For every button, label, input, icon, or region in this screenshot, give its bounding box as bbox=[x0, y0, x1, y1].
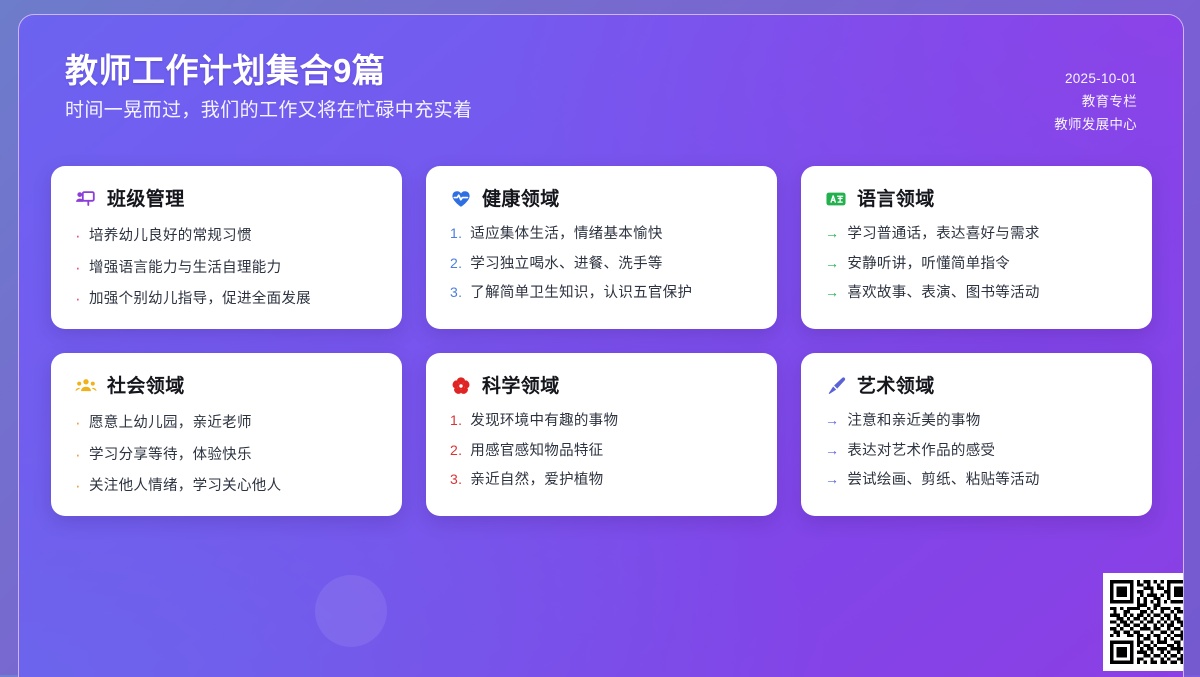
list-item: →安静听讲，听懂简单指令 bbox=[825, 256, 1128, 272]
list-item: ·增强语言能力与生活自理能力 bbox=[75, 258, 378, 276]
paintbrush-icon bbox=[825, 375, 847, 397]
decorative-circle bbox=[315, 575, 387, 647]
card-title: 艺术领域 bbox=[857, 377, 935, 396]
list-item: →表达对艺术作品的感受 bbox=[825, 443, 1128, 459]
card-language-domain[interactable]: 语言领域→学习普通话，表达喜好与需求→安静听讲，听懂简单指令→喜欢故事、表演、图… bbox=[801, 166, 1152, 329]
meta-date: 2025-10-01 bbox=[1054, 67, 1137, 90]
header-meta: 2025-10-01 教育专栏 教师发展中心 bbox=[1054, 51, 1137, 137]
list-marker: → bbox=[825, 472, 839, 486]
list-item: →喜欢故事、表演、图书等活动 bbox=[825, 285, 1128, 301]
list-marker: 1. bbox=[450, 413, 462, 427]
list-marker: · bbox=[75, 446, 81, 463]
list-item-text: 亲近自然，爱护植物 bbox=[470, 473, 753, 488]
presentation-icon bbox=[75, 188, 97, 210]
list-item-text: 学习分享等待，体验快乐 bbox=[89, 448, 378, 463]
list-item-text: 培养幼儿良好的常规习惯 bbox=[89, 229, 378, 244]
list-item-text: 学习独立喝水、进餐、洗手等 bbox=[470, 257, 753, 272]
list-marker: → bbox=[825, 226, 839, 240]
list-marker: · bbox=[75, 290, 81, 307]
list-item-text: 了解简单卫生知识，认识五官保护 bbox=[470, 286, 753, 301]
list-marker: → bbox=[825, 443, 839, 457]
list-item-text: 适应集体生活，情绪基本愉快 bbox=[470, 227, 753, 242]
list-item: ·培养幼儿良好的常规习惯 bbox=[75, 226, 378, 244]
list-item: 2.学习独立喝水、进餐、洗手等 bbox=[450, 256, 753, 272]
list-item: 3.了解简单卫生知识，认识五官保护 bbox=[450, 285, 753, 301]
card-header: 语言领域 bbox=[825, 188, 1128, 210]
list-marker: → bbox=[825, 256, 839, 270]
list-item-text: 安静听讲，听懂简单指令 bbox=[847, 257, 1128, 272]
list-item-text: 喜欢故事、表演、图书等活动 bbox=[847, 286, 1128, 301]
card-social-domain[interactable]: 社会领域·愿意上幼儿园，亲近老师·学习分享等待，体验快乐·关注他人情绪，学习关心… bbox=[51, 353, 402, 516]
list-item: 1.发现环境中有趣的事物 bbox=[450, 413, 753, 429]
card-item-list: ·愿意上幼儿园，亲近老师·学习分享等待，体验快乐·关注他人情绪，学习关心他人 bbox=[75, 413, 378, 494]
list-item-text: 尝试绘画、剪纸、粘贴等活动 bbox=[847, 473, 1128, 488]
list-marker: · bbox=[75, 414, 81, 431]
list-marker: 3. bbox=[450, 472, 462, 486]
list-item-text: 关注他人情绪，学习关心他人 bbox=[89, 479, 378, 494]
card-health-domain[interactable]: 健康领域1.适应集体生活，情绪基本愉快2.学习独立喝水、进餐、洗手等3.了解简单… bbox=[426, 166, 777, 329]
meta-organization: 教师发展中心 bbox=[1054, 113, 1137, 136]
list-item: 1.适应集体生活，情绪基本愉快 bbox=[450, 226, 753, 242]
card-header: 社会领域 bbox=[75, 375, 378, 397]
list-item-text: 增强语言能力与生活自理能力 bbox=[89, 261, 378, 276]
page-subtitle: 时间一晃而过，我们的工作又将在忙碌中充实着 bbox=[65, 99, 472, 124]
qr-code bbox=[1110, 580, 1184, 664]
list-item-text: 愿意上幼儿园，亲近老师 bbox=[89, 416, 378, 431]
list-marker: → bbox=[825, 413, 839, 427]
card-header: 健康领域 bbox=[450, 188, 753, 210]
list-marker: 3. bbox=[450, 285, 462, 299]
list-item: 2.用感官感知物品特征 bbox=[450, 443, 753, 459]
heart-pulse-icon bbox=[450, 188, 472, 210]
card-class-management[interactable]: 班级管理·培养幼儿良好的常规习惯·增强语言能力与生活自理能力·加强个别幼儿指导，… bbox=[51, 166, 402, 329]
card-grid: 班级管理·培养幼儿良好的常规习惯·增强语言能力与生活自理能力·加强个别幼儿指导，… bbox=[51, 166, 1161, 516]
list-item: →学习普通话，表达喜好与需求 bbox=[825, 226, 1128, 242]
list-item-text: 用感官感知物品特征 bbox=[470, 444, 753, 459]
card-item-list: 1.适应集体生活，情绪基本愉快2.学习独立喝水、进餐、洗手等3.了解简单卫生知识… bbox=[450, 226, 753, 301]
list-item-text: 表达对艺术作品的感受 bbox=[847, 444, 1128, 459]
card-item-list: ·培养幼儿良好的常规习惯·增强语言能力与生活自理能力·加强个别幼儿指导，促进全面… bbox=[75, 226, 378, 307]
card-item-list: →注意和亲近美的事物→表达对艺术作品的感受→尝试绘画、剪纸、粘贴等活动 bbox=[825, 413, 1128, 488]
list-marker: 2. bbox=[450, 443, 462, 457]
list-marker: 2. bbox=[450, 256, 462, 270]
list-item: ·关注他人情绪，学习关心他人 bbox=[75, 476, 378, 494]
list-marker: · bbox=[75, 227, 81, 244]
card-science-domain[interactable]: 科学领域1.发现环境中有趣的事物2.用感官感知物品特征3.亲近自然，爱护植物 bbox=[426, 353, 777, 516]
list-marker: 1. bbox=[450, 226, 462, 240]
list-marker: · bbox=[75, 477, 81, 494]
people-group-icon bbox=[75, 375, 97, 397]
card-art-domain[interactable]: 艺术领域→注意和亲近美的事物→表达对艺术作品的感受→尝试绘画、剪纸、粘贴等活动 bbox=[801, 353, 1152, 516]
list-item: ·愿意上幼儿园，亲近老师 bbox=[75, 413, 378, 431]
list-item-text: 加强个别幼儿指导，促进全面发展 bbox=[89, 292, 378, 307]
card-header: 科学领域 bbox=[450, 375, 753, 397]
qr-code-container[interactable] bbox=[1103, 573, 1184, 671]
list-item-text: 发现环境中有趣的事物 bbox=[470, 414, 753, 429]
card-title: 社会领域 bbox=[107, 377, 185, 396]
list-item: →尝试绘画、剪纸、粘贴等活动 bbox=[825, 472, 1128, 488]
page-title: 教师工作计划集合9篇 bbox=[65, 51, 472, 91]
translate-icon bbox=[825, 188, 847, 210]
list-item: 3.亲近自然，爱护植物 bbox=[450, 472, 753, 488]
card-header: 班级管理 bbox=[75, 188, 378, 210]
meta-column: 教育专栏 bbox=[1054, 90, 1137, 113]
atom-icon bbox=[450, 375, 472, 397]
list-marker: → bbox=[825, 285, 839, 299]
card-title: 语言领域 bbox=[857, 190, 935, 209]
list-item: →注意和亲近美的事物 bbox=[825, 413, 1128, 429]
card-item-list: →学习普通话，表达喜好与需求→安静听讲，听懂简单指令→喜欢故事、表演、图书等活动 bbox=[825, 226, 1128, 301]
slide-header: 教师工作计划集合9篇 时间一晃而过，我们的工作又将在忙碌中充实着 2025-10… bbox=[19, 15, 1183, 137]
list-item: ·学习分享等待，体验快乐 bbox=[75, 445, 378, 463]
card-title: 科学领域 bbox=[482, 377, 560, 396]
slide-frame: 教师工作计划集合9篇 时间一晃而过，我们的工作又将在忙碌中充实着 2025-10… bbox=[0, 0, 1200, 675]
card-title: 班级管理 bbox=[107, 190, 185, 209]
card-header: 艺术领域 bbox=[825, 375, 1128, 397]
card-title: 健康领域 bbox=[482, 190, 560, 209]
list-item-text: 注意和亲近美的事物 bbox=[847, 414, 1128, 429]
list-marker: · bbox=[75, 259, 81, 276]
list-item-text: 学习普通话，表达喜好与需求 bbox=[847, 227, 1128, 242]
card-item-list: 1.发现环境中有趣的事物2.用感官感知物品特征3.亲近自然，爱护植物 bbox=[450, 413, 753, 488]
list-item: ·加强个别幼儿指导，促进全面发展 bbox=[75, 289, 378, 307]
title-block: 教师工作计划集合9篇 时间一晃而过，我们的工作又将在忙碌中充实着 bbox=[47, 51, 472, 124]
slide-panel: 教师工作计划集合9篇 时间一晃而过，我们的工作又将在忙碌中充实着 2025-10… bbox=[18, 14, 1184, 677]
